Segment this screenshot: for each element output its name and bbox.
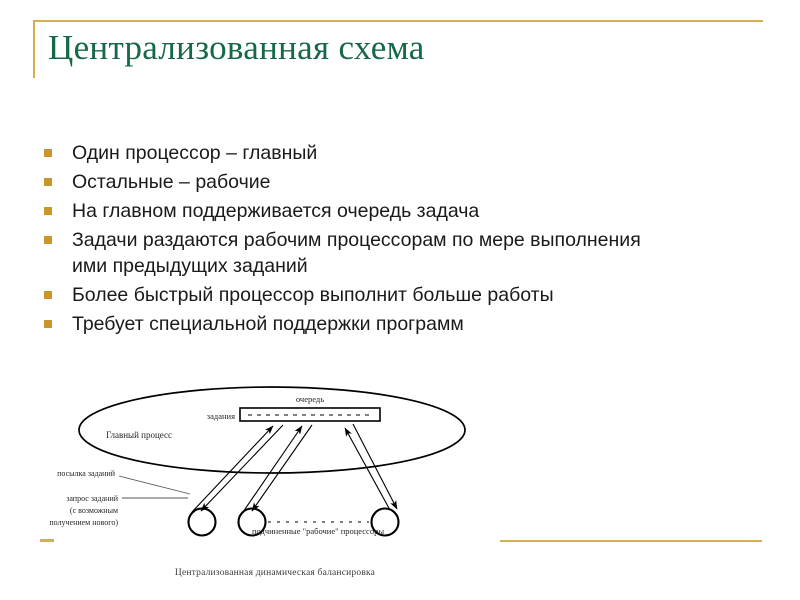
send-tasks-label: посылка заданий <box>57 469 116 478</box>
square-bullet-icon <box>44 291 52 299</box>
list-item: Более быстрый процессор выполнит больше … <box>44 282 664 308</box>
square-bullet-icon <box>44 149 52 157</box>
square-bullet-icon <box>44 320 52 328</box>
request-tasks-label: запрос заданий <box>66 494 119 503</box>
list-item: Задачи раздаются рабочим процессорам по … <box>44 227 664 279</box>
list-item-label: Задачи раздаются рабочим процессорам по … <box>72 227 664 279</box>
worker-processor-circle <box>189 509 216 536</box>
list-item: Остальные – рабочие <box>44 169 664 195</box>
list-item-label: Требует специальной поддержки программ <box>72 311 664 337</box>
bullet-list: Один процессор – главный Остальные – раб… <box>44 140 664 340</box>
square-bullet-icon <box>44 178 52 186</box>
workers-label: подчиненные "рабочие" процессоры <box>252 526 384 536</box>
decorative-left-rule <box>33 20 35 78</box>
diagram-svg: очередь задания Главный процесс посылка … <box>40 382 510 567</box>
list-item-label: Один процессор – главный <box>72 140 664 166</box>
list-item-label: Более быстрый процессор выполнит больше … <box>72 282 664 308</box>
list-item-label: Остальные – рабочие <box>72 169 664 195</box>
square-bullet-icon <box>44 207 52 215</box>
task-send-arrow <box>201 425 283 511</box>
task-request-arrow <box>243 426 302 512</box>
decorative-top-rule <box>33 20 763 22</box>
request-tasks-note-line1: (с возможным <box>70 506 118 515</box>
master-process-label: Главный процесс <box>106 430 172 440</box>
page-title: Централизованная схема <box>48 28 425 68</box>
slide-canvas: Централизованная схема Один процессор – … <box>0 0 800 600</box>
square-bullet-icon <box>44 236 52 244</box>
tasks-label: задания <box>207 411 235 421</box>
centralized-scheme-diagram: очередь задания Главный процесс посылка … <box>40 382 510 592</box>
queue-label: очередь <box>296 394 324 404</box>
request-tasks-note-line2: получением нового) <box>49 518 118 527</box>
list-item: Один процессор – главный <box>44 140 664 166</box>
task-send-arrow <box>353 424 397 509</box>
send-tasks-leader-line <box>119 476 190 494</box>
figure-caption: Централизованная динамическая балансиров… <box>40 568 510 578</box>
list-item: Требует специальной поддержки программ <box>44 311 664 337</box>
decorative-bottom-rule <box>500 540 762 542</box>
task-send-arrow <box>252 425 312 511</box>
list-item: На главном поддерживается очередь задача <box>44 198 664 224</box>
list-item-label: На главном поддерживается очередь задача <box>72 198 664 224</box>
